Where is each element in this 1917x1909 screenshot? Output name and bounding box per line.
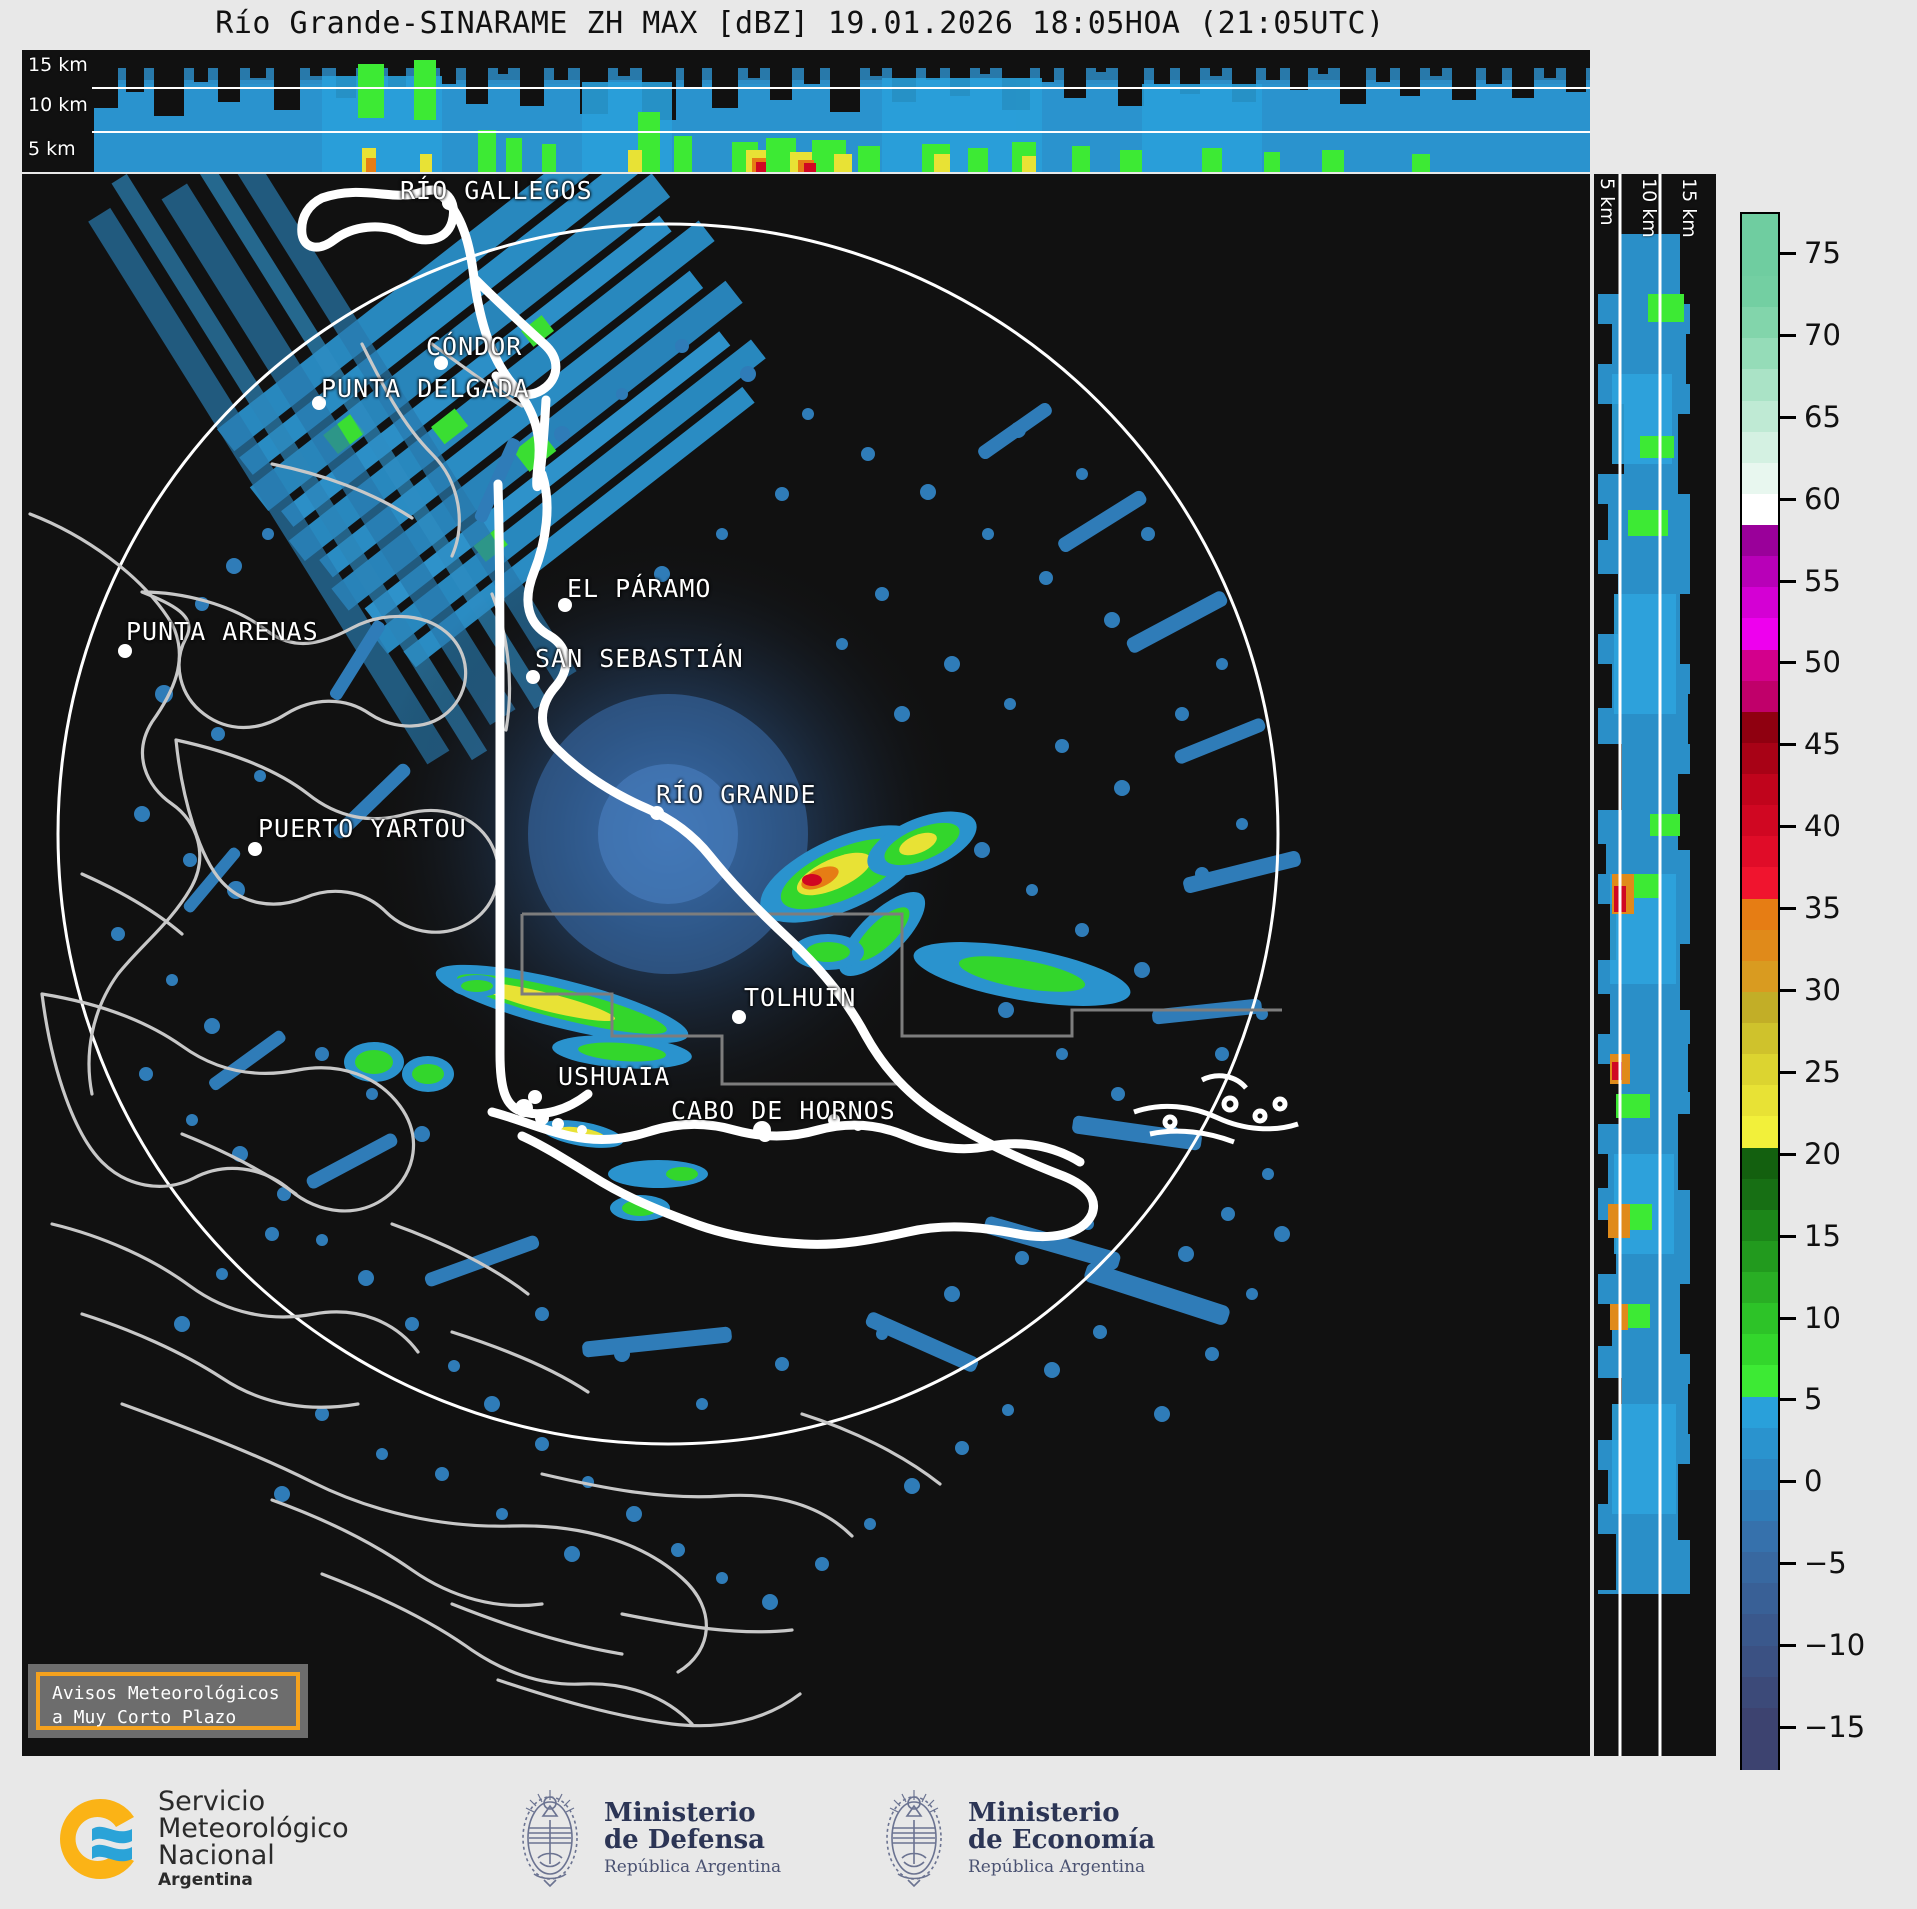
economia-line2: de Economía: [968, 1827, 1155, 1855]
colorbar-segment: [1742, 1397, 1778, 1428]
colorbar-segment: [1742, 463, 1778, 494]
colorbar-segment: [1742, 774, 1778, 805]
colorbar-tick-label: 75: [1804, 236, 1841, 270]
colorbar-segment: [1742, 1583, 1778, 1614]
colorbar-segment: [1742, 587, 1778, 618]
colorbar-tick: [1780, 1562, 1796, 1565]
colorbar-segment: [1742, 1054, 1778, 1085]
colorbar-segment: [1742, 1614, 1778, 1645]
colorbar-segment: [1742, 1739, 1778, 1770]
colorbar-segment: [1742, 618, 1778, 649]
colorbar-segment: [1742, 805, 1778, 836]
colorbar-tick: [1780, 1235, 1796, 1238]
colorbar-segment: [1742, 1116, 1778, 1147]
colorbar-segment: [1742, 1677, 1778, 1708]
colorbar-segment: [1742, 1303, 1778, 1334]
colorbar-segment: [1742, 712, 1778, 743]
colorbar-segment: [1742, 369, 1778, 400]
colorbar-segment: [1742, 214, 1778, 245]
colorbar-tick-label: 0: [1804, 1464, 1822, 1498]
city-dot-puerto-yartou[interactable]: [248, 842, 262, 856]
colorbar-segment: [1742, 1241, 1778, 1272]
colorbar-segment: [1742, 1428, 1778, 1459]
footer-logos: Servicio Meteorológico Nacional Argentin…: [0, 1770, 1917, 1909]
colorbar-tick: [1780, 1398, 1796, 1401]
logo-ministerio-economia: Ministerio de Economía República Argenti…: [874, 1786, 1155, 1890]
cross-section-right-panel: 5 km 10 km 15 km: [1594, 174, 1716, 1756]
xsec-top-height-label-5km: 5 km: [28, 138, 76, 160]
colorbar-segment: [1742, 1179, 1778, 1210]
colorbar-tick: [1780, 580, 1796, 583]
colorbar-tick-label: 65: [1804, 400, 1841, 434]
colorbar-segment: [1742, 992, 1778, 1023]
colorbar-tick-label: 20: [1804, 1137, 1841, 1171]
colorbar-tick-label: 45: [1804, 727, 1841, 761]
colorbar-tick-label: 55: [1804, 564, 1841, 598]
colorbar-segment: [1742, 276, 1778, 307]
city-label-el-paramo: EL PÁRAMO: [567, 574, 711, 603]
xsec-right-height-label-15km: 15 km: [1678, 178, 1700, 238]
colorbar-tick-label: 60: [1804, 482, 1841, 516]
smn-line2: Meteorológico: [158, 1815, 349, 1842]
smn-logo-icon: [52, 1791, 148, 1887]
colorbar-tick-label: 35: [1804, 891, 1841, 925]
warning-badge[interactable]: Avisos Meteorológicos a Muy Corto Plazo: [36, 1672, 300, 1730]
colorbar-tick-label: −10: [1804, 1628, 1865, 1662]
colorbar-tick-label: 10: [1804, 1301, 1841, 1335]
city-label-ushuaia: USHUAIA: [558, 1062, 670, 1091]
colorbar-segment: [1742, 307, 1778, 338]
colorbar-tick-label: 70: [1804, 318, 1841, 352]
colorbar-segment: [1742, 1365, 1778, 1396]
city-label-punta-delgada: PUNTA DELGADA: [321, 374, 530, 403]
city-label-san-sebastian: SAN SEBASTIÁN: [535, 644, 744, 673]
defensa-logo-text: Ministerio de Defensa República Argentin…: [604, 1800, 781, 1876]
colorbar-segment: [1742, 245, 1778, 276]
colorbar-tick: [1780, 907, 1796, 910]
colorbar-tick: [1780, 498, 1796, 501]
colorbar-tick: [1780, 825, 1796, 828]
cross-section-right-echoes: [1594, 174, 1716, 1756]
colorbar-tick: [1780, 1071, 1796, 1074]
city-label-rio-grande: RÍO GRANDE: [656, 780, 817, 809]
radar-map-panel[interactable]: RÍO GALLEGOS CÓNDOR PUNTA DELGADA EL PÁR…: [22, 174, 1590, 1756]
xsec-right-height-label-5km: 5 km: [1596, 178, 1618, 226]
colorbar-segment: [1742, 867, 1778, 898]
warning-badge-line1: Avisos Meteorológicos: [52, 1682, 286, 1706]
colorbar-segment: [1742, 1334, 1778, 1365]
colorbar-tick-label: 5: [1804, 1382, 1822, 1416]
city-label-punta-arenas: PUNTA ARENAS: [126, 617, 319, 646]
smn-logo-text: Servicio Meteorológico Nacional Argentin…: [158, 1788, 349, 1889]
city-dot-cabo-de-hornos[interactable]: [758, 1128, 772, 1142]
colorbar-tick: [1780, 743, 1796, 746]
colorbar-segment: [1742, 1552, 1778, 1583]
argentina-coat-of-arms-icon: [510, 1786, 590, 1890]
colorbar-tick: [1780, 1317, 1796, 1320]
colorbar-tick: [1780, 1726, 1796, 1729]
colorbar-segment: [1742, 1272, 1778, 1303]
defensa-line2: de Defensa: [604, 1827, 781, 1855]
argentina-coat-of-arms-icon: [874, 1786, 954, 1890]
colorbar-segment: [1742, 1490, 1778, 1521]
colorbar-tick: [1780, 661, 1796, 664]
city-label-condor: CÓNDOR: [426, 332, 522, 361]
logo-ministerio-defensa: Ministerio de Defensa República Argentin…: [510, 1786, 781, 1890]
smn-line4: Argentina: [158, 1872, 349, 1889]
colorbar-tick: [1780, 1153, 1796, 1156]
city-label-cabo-de-hornos: CABO DE HORNOS: [671, 1096, 896, 1125]
colorbar-segment: [1742, 743, 1778, 774]
colorbar-tick: [1780, 1644, 1796, 1647]
radar-map-canvas: [22, 174, 1590, 1756]
warning-badge-line2: a Muy Corto Plazo: [52, 1706, 286, 1730]
colorbar-segment: [1742, 1023, 1778, 1054]
colorbar-tick-label: 40: [1804, 809, 1841, 843]
colorbar-tick-label: 30: [1804, 973, 1841, 1007]
defensa-line3: República Argentina: [604, 1858, 781, 1876]
cross-section-top-panel: 15 km 10 km 5 km: [22, 50, 1590, 172]
city-dot-tolhuin[interactable]: [732, 1010, 746, 1024]
defensa-line1: Ministerio: [604, 1800, 781, 1828]
xsec-top-height-label-15km: 15 km: [28, 54, 88, 76]
colorbar-segment: [1742, 432, 1778, 463]
city-dot-punta-arenas[interactable]: [118, 644, 132, 658]
cross-section-top-echoes: [22, 50, 1590, 172]
city-label-rio-gallegos: RÍO GALLEGOS: [400, 176, 593, 205]
colorbar-tick-label: 50: [1804, 645, 1841, 679]
colorbar-segment: [1742, 556, 1778, 587]
colorbar-tick-label: 25: [1804, 1055, 1841, 1089]
colorbar-segment: [1742, 899, 1778, 930]
colorbar-segment: [1742, 494, 1778, 525]
economia-line3: República Argentina: [968, 1858, 1155, 1876]
colorbar-segment: [1742, 525, 1778, 556]
colorbar-tick: [1780, 1480, 1796, 1483]
xsec-top-height-label-10km: 10 km: [28, 94, 88, 116]
colorbar-segment: [1742, 681, 1778, 712]
colorbar-segment: [1742, 1085, 1778, 1116]
colorbar-segment: [1742, 1148, 1778, 1179]
colorbar-segment: [1742, 650, 1778, 681]
logo-smn: Servicio Meteorológico Nacional Argentin…: [52, 1788, 349, 1889]
smn-line1: Servicio: [158, 1788, 349, 1815]
radar-product-page: Río Grande-SINARAME ZH MAX [dBZ] 19.01.2…: [0, 0, 1917, 1909]
reflectivity-colorbar: [1740, 212, 1780, 1772]
colorbar-segment: [1742, 338, 1778, 369]
colorbar-segment: [1742, 836, 1778, 867]
colorbar-tick: [1780, 334, 1796, 337]
city-label-tolhuin: TOLHUIN: [744, 983, 856, 1012]
colorbar-segment: [1742, 1521, 1778, 1552]
colorbar-segment: [1742, 930, 1778, 961]
colorbar-tick-label: −15: [1804, 1710, 1865, 1744]
colorbar-segment: [1742, 401, 1778, 432]
smn-line3: Nacional: [158, 1842, 349, 1869]
colorbar-tick-label: 15: [1804, 1219, 1841, 1253]
colorbar-segment: [1742, 961, 1778, 992]
colorbar-tick-axis: 757065605550454035302520151050−5−10−15: [1780, 212, 1910, 1768]
colorbar-segment: [1742, 1646, 1778, 1677]
city-dot-ushuaia[interactable]: [528, 1090, 542, 1104]
page-title: Río Grande-SINARAME ZH MAX [dBZ] 19.01.2…: [0, 6, 1600, 41]
xsec-right-height-label-10km: 10 km: [1638, 178, 1660, 238]
colorbar-tick: [1780, 416, 1796, 419]
economia-line1: Ministerio: [968, 1800, 1155, 1828]
colorbar-tick-label: −5: [1804, 1546, 1847, 1580]
colorbar-segment: [1742, 1210, 1778, 1241]
colorbar-segment: [1742, 1459, 1778, 1490]
colorbar-tick: [1780, 989, 1796, 992]
city-label-puerto-yartou: PUERTO YARTOU: [258, 814, 467, 843]
economia-logo-text: Ministerio de Economía República Argenti…: [968, 1800, 1155, 1876]
colorbar-tick: [1780, 252, 1796, 255]
colorbar-segment: [1742, 1708, 1778, 1739]
